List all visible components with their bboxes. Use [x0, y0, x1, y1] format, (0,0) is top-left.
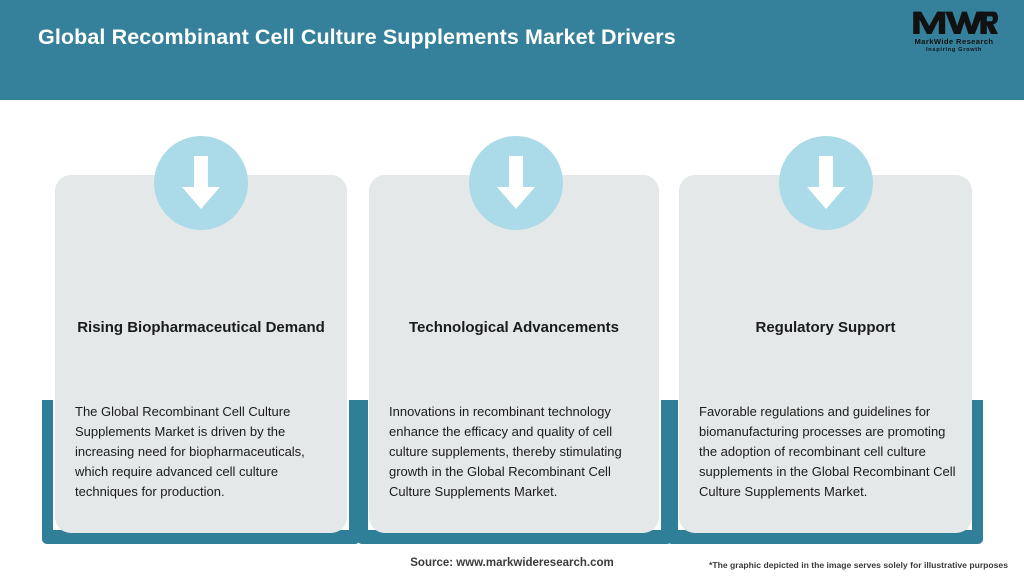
arrow-down-icon: [779, 136, 873, 230]
footer-bar: Source: www.markwideresearch.com *The gr…: [0, 540, 1024, 576]
arrow-down-glyph: [494, 154, 538, 212]
card-title: Regulatory Support: [699, 317, 952, 339]
driver-card-3: Regulatory Support Favorable regulations…: [667, 100, 985, 540]
card-title: Rising Biopharmaceutical Demand: [75, 317, 327, 339]
brand-logo: MarkWide Research Inspiring Growth: [902, 8, 1006, 60]
arrow-down-glyph: [804, 154, 848, 212]
mwr-logo-icon: [910, 8, 998, 36]
arrow-down-glyph: [179, 154, 223, 212]
card-title: Technological Advancements: [389, 317, 639, 339]
page-title: Global Recombinant Cell Culture Suppleme…: [38, 25, 676, 50]
card-body-text: Favorable regulations and guidelines for…: [699, 402, 956, 501]
card-body-text: The Global Recombinant Cell Culture Supp…: [75, 402, 331, 501]
logo-tagline: Inspiring Growth: [902, 47, 1006, 53]
header-bar: Global Recombinant Cell Culture Suppleme…: [0, 0, 1024, 100]
arrow-down-icon: [469, 136, 563, 230]
card-body-text: Innovations in recombinant technology en…: [389, 402, 643, 501]
driver-card-1: Rising Biopharmaceutical Demand The Glob…: [42, 100, 360, 540]
disclaimer-note: *The graphic depicted in the image serve…: [709, 560, 1008, 570]
driver-card-2: Technological Advancements Innovations i…: [357, 100, 675, 540]
slide-canvas: Global Recombinant Cell Culture Suppleme…: [0, 0, 1024, 576]
driver-cards-container: Rising Biopharmaceutical Demand The Glob…: [0, 100, 1024, 540]
logo-company-name: MarkWide Research: [902, 37, 1006, 46]
arrow-down-icon: [154, 136, 248, 230]
